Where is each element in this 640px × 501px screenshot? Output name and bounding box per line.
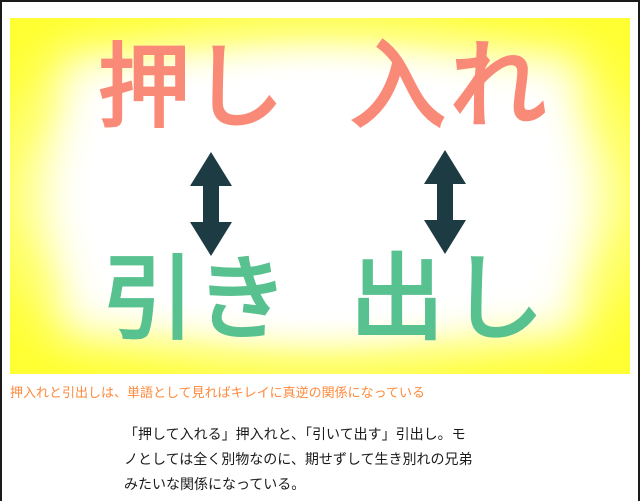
word-dashi: 出し (350, 252, 550, 346)
body-line: ノとしては全く別物なのに、期せずして生き別れの兄弟 (124, 447, 504, 472)
page-frame: 押し 入れ 引き 出し 押入れと引出しは、単語として見ればキレイに真逆の関係にな… (0, 0, 640, 501)
yellow-glow-panel: 押し 入れ 引き 出し (10, 18, 630, 374)
word-hiki: 引き (102, 254, 290, 346)
double-headed-vertical-arrow-icon-right (422, 150, 468, 254)
body-line: 「押して入れる」押入れと、「引いて出す」引出し。モ (124, 422, 504, 447)
word-oshi: 押し (98, 42, 286, 134)
diagram-content: 押し 入れ 引き 出し (10, 18, 630, 374)
body-paragraph: 「押して入れる」押入れと、「引いて出す」引出し。モ ノとしては全く別物なのに、期… (124, 422, 504, 497)
caption-text: 押入れと引出しは、単語として見ればキレイに真逆の関係になっている (10, 382, 630, 401)
body-line: みたいな関係になっている。 (124, 472, 504, 497)
word-ire: 入れ (350, 38, 550, 134)
double-headed-vertical-arrow-icon-left (188, 152, 234, 256)
